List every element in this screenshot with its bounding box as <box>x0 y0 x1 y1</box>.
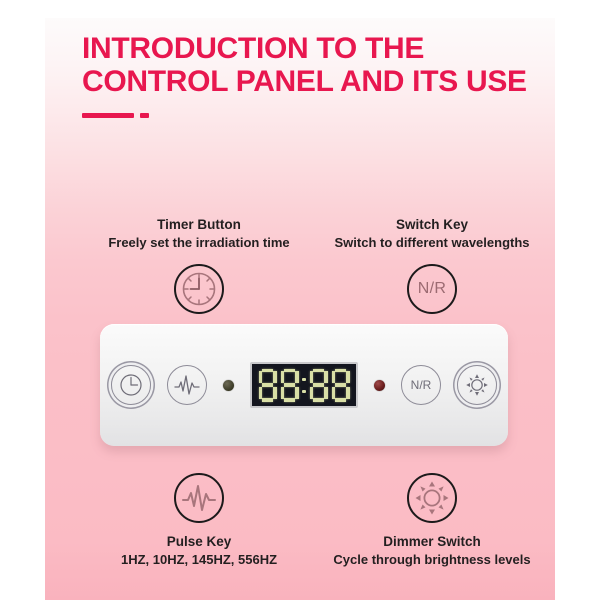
nr-icon: N/R <box>407 264 457 314</box>
panel-pulse-button[interactable] <box>167 365 207 405</box>
pulse-waveform-icon <box>173 374 201 396</box>
indicator-led-red <box>374 380 385 391</box>
callout-pulse-heading: Pulse Key <box>69 533 329 551</box>
callout-timer-description: Freely set the irradiation time <box>69 234 329 252</box>
control-panel-row: N/R <box>111 362 497 408</box>
page-root: INTRODUCTION TO THE CONTROL PANEL AND IT… <box>0 0 600 600</box>
indicator-led-dark <box>223 380 234 391</box>
pulse-waveform-icon <box>174 473 224 523</box>
callout-switch-description: Switch to different wavelengths <box>307 234 555 252</box>
callout-timer-heading: Timer Button <box>69 216 329 234</box>
callout-switch: Switch Key Switch to different wavelengt… <box>307 216 555 314</box>
display-digit-4 <box>331 369 350 402</box>
callout-switch-icon-holder: N/R <box>307 264 555 314</box>
callout-dimmer-icon-holder <box>307 473 555 523</box>
panel-timer-button[interactable] <box>111 365 151 405</box>
sun-brightness-icon <box>407 473 457 523</box>
page-title: INTRODUCTION TO THE CONTROL PANEL AND IT… <box>82 32 532 118</box>
underline-long-dash <box>82 113 134 118</box>
callout-pulse-description: 1HZ, 10HZ, 145HZ, 556HZ <box>69 551 329 569</box>
nr-icon-label: N/R <box>418 281 446 297</box>
clock-icon <box>118 372 144 398</box>
sun-brightness-icon <box>465 373 489 397</box>
title-underline-decoration <box>82 113 532 118</box>
clock-icon <box>174 264 224 314</box>
panel-switch-button[interactable]: N/R <box>401 365 441 405</box>
page-title-line-1: INTRODUCTION TO THE <box>82 32 532 65</box>
callout-timer-icon-holder <box>69 264 329 314</box>
callout-pulse: Pulse Key 1HZ, 10HZ, 145HZ, 556HZ <box>69 473 329 569</box>
callout-dimmer: Dimmer Switch Cycle through brightness l… <box>307 473 555 569</box>
seven-segment-display <box>250 362 358 408</box>
display-digit-2 <box>280 369 299 402</box>
callout-dimmer-heading: Dimmer Switch <box>307 533 555 551</box>
display-digit-3 <box>309 369 328 402</box>
panel-dimmer-button[interactable] <box>457 365 497 405</box>
display-colon <box>302 369 306 402</box>
callout-switch-heading: Switch Key <box>307 216 555 234</box>
panel-switch-button-label: N/R <box>411 378 432 392</box>
callout-pulse-icon-holder <box>69 473 329 523</box>
content-slab: INTRODUCTION TO THE CONTROL PANEL AND IT… <box>45 18 555 600</box>
underline-short-dash <box>140 113 149 118</box>
page-title-line-2: CONTROL PANEL AND ITS USE <box>82 65 532 98</box>
control-panel-device: N/R <box>100 324 508 446</box>
callout-dimmer-description: Cycle through brightness levels <box>307 551 555 569</box>
callout-timer: Timer Button Freely set the irradiation … <box>69 216 329 314</box>
display-digit-1 <box>258 369 277 402</box>
